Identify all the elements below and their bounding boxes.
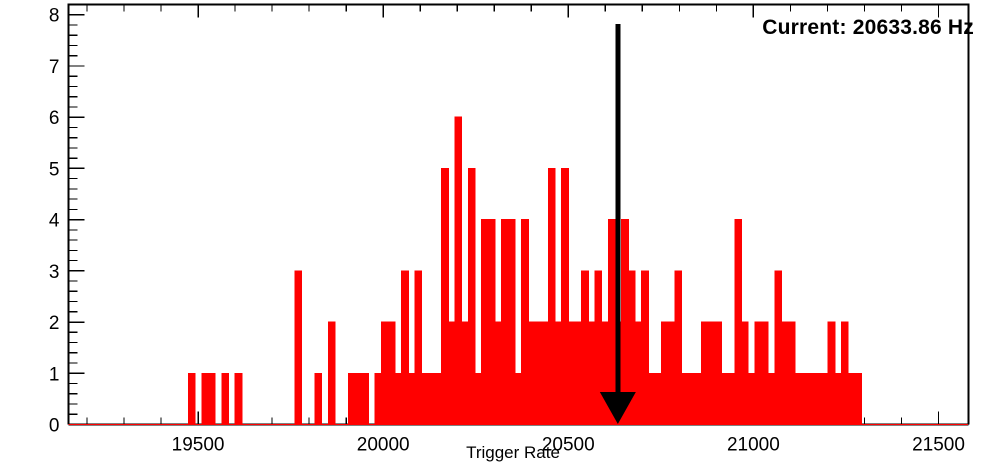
y-tick-label: 7 <box>49 57 60 78</box>
x-tick-label: 20000 <box>357 435 410 456</box>
y-tick-label: 4 <box>49 211 60 232</box>
y-tick-label: 0 <box>49 416 60 437</box>
root-plot-canvas: 0123456781950020000205002100021500Trigge… <box>0 0 996 472</box>
histogram-series <box>69 117 969 424</box>
y-tick-label: 2 <box>49 313 60 334</box>
current-rate-readout: Current: 20633.86 Hz <box>762 16 974 40</box>
y-tick-label: 6 <box>49 108 60 129</box>
histogram-bars <box>69 117 969 424</box>
x-tick-label: 21000 <box>727 435 780 456</box>
y-tick-label: 5 <box>49 159 60 180</box>
x-tick-label: 21500 <box>912 435 965 456</box>
y-tick-label: 8 <box>49 6 60 27</box>
x-tick-label: 19500 <box>172 435 225 456</box>
x-axis-title: Trigger Rate <box>466 443 560 462</box>
y-tick-label: 3 <box>49 262 60 283</box>
y-tick-label: 1 <box>49 364 60 385</box>
histogram-plot[interactable]: 0123456781950020000205002100021500Trigge… <box>0 0 996 472</box>
